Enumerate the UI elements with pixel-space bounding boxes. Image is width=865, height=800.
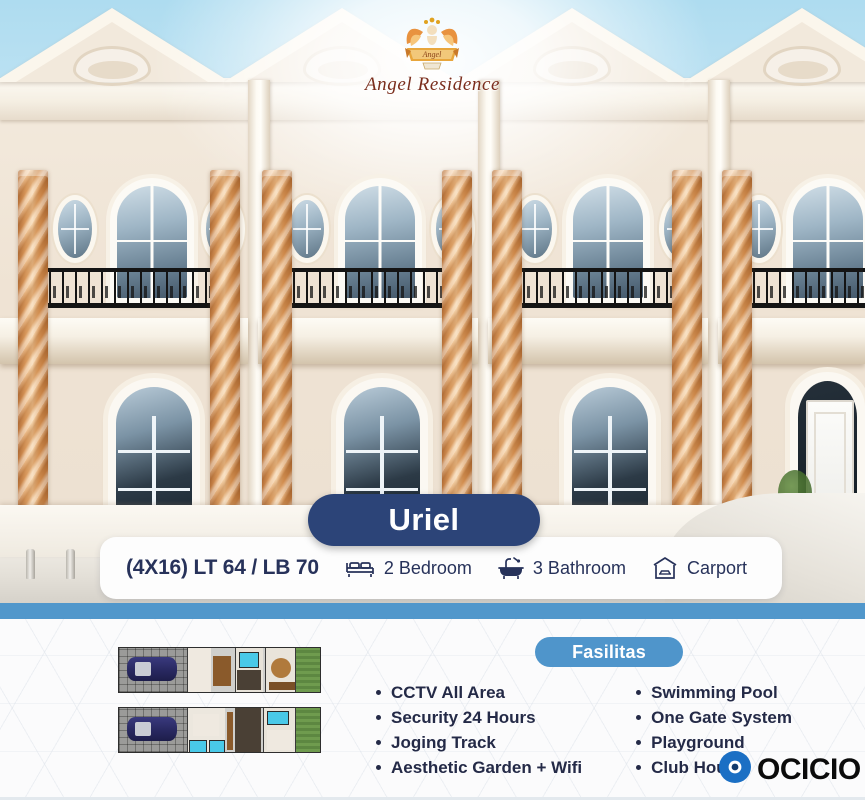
oval-window-unit-1-left xyxy=(58,200,92,258)
bathtub-icon xyxy=(498,556,524,580)
unit-name-badge: Uriel xyxy=(308,494,540,546)
ocicio-eye-logo-icon xyxy=(718,750,752,789)
bedroom-label: 2 Bedroom xyxy=(384,558,472,579)
twisted-column-7 xyxy=(722,170,752,538)
twisted-column-1 xyxy=(18,170,48,538)
door-frame-horizontal xyxy=(118,450,190,453)
list-item: Joging Track xyxy=(374,730,582,755)
bollard-post-1 xyxy=(26,549,35,579)
ocicio-watermark-text: OCICIO xyxy=(757,755,861,785)
balcony-railing-unit-4 xyxy=(740,268,865,308)
plan-furniture xyxy=(213,656,231,686)
dimensions-label: (4X16) LT 64 / LB 70 xyxy=(126,556,319,580)
twisted-column-3 xyxy=(262,170,292,538)
plan-garden xyxy=(295,708,320,752)
list-item: Security 24 Hours xyxy=(374,705,582,730)
plan-sofa xyxy=(269,682,295,690)
list-item: One Gate System xyxy=(634,705,792,730)
plan-room xyxy=(187,648,211,692)
door-frame-horizontal xyxy=(574,450,646,453)
property-promo-poster: Angel Angel Residence Uriel (4X16) LT 64… xyxy=(0,0,865,800)
door-frame-horizontal xyxy=(118,488,190,491)
svg-text:Angel: Angel xyxy=(422,50,442,59)
plan-bed xyxy=(267,730,293,750)
plan-car xyxy=(127,717,177,741)
plan-room-dark xyxy=(235,708,261,753)
plan-dining-table xyxy=(271,658,291,678)
door-frame-horizontal xyxy=(346,450,418,453)
specs-bar: (4X16) LT 64 / LB 70 2 Bedroom xyxy=(100,537,782,599)
twisted-column-5 xyxy=(492,170,522,538)
angel-crest-logo: Angel xyxy=(393,14,471,72)
list-item: CCTV All Area xyxy=(374,680,582,705)
door-frame-horizontal xyxy=(346,488,418,491)
plan-garden xyxy=(295,648,320,692)
facilities-list-left: CCTV All Area Security 24 Hours Joging T… xyxy=(374,680,582,780)
door-mullion-horizontal xyxy=(572,240,644,242)
plan-bathroom xyxy=(267,711,289,725)
oval-window-unit-3-left xyxy=(518,200,552,258)
facilities-heading-label: Fasilitas xyxy=(572,642,646,663)
oval-window-unit-2-left xyxy=(290,200,324,258)
spec-carport: Carport xyxy=(652,556,747,580)
brand-name-script: Angel Residence xyxy=(0,74,865,96)
door-mullion-horizontal xyxy=(792,240,864,242)
carport-label: Carport xyxy=(687,558,747,579)
upper-floor-plan[interactable] xyxy=(118,707,321,753)
plan-room-dark xyxy=(237,670,261,690)
facilities-heading-badge: Fasilitas xyxy=(535,637,683,667)
ocicio-watermark: OCICIO xyxy=(718,750,861,789)
bathroom-label: 3 Bathroom xyxy=(533,558,626,579)
twisted-column-6 xyxy=(672,170,702,538)
balcony-railing-unit-3 xyxy=(510,268,690,308)
door-frame-horizontal xyxy=(574,488,646,491)
door-mullion-horizontal xyxy=(344,240,416,242)
door-mullion-horizontal xyxy=(116,240,188,242)
unit-name-label: Uriel xyxy=(389,502,460,538)
balcony-railing-unit-2 xyxy=(280,268,460,308)
floor-plans-group xyxy=(118,647,321,767)
plan-bathroom xyxy=(239,652,259,668)
plan-bed xyxy=(193,714,219,736)
bed-icon xyxy=(345,557,375,579)
carport-icon xyxy=(652,556,678,580)
balcony-railing-unit-1 xyxy=(36,268,222,308)
spec-bedroom: 2 Bedroom xyxy=(345,557,472,579)
plan-door xyxy=(227,712,233,750)
twisted-column-4 xyxy=(442,170,472,538)
list-item: Swimming Pool xyxy=(634,680,792,705)
plan-car xyxy=(127,657,177,681)
twisted-column-2 xyxy=(210,170,240,538)
property-photo: Angel Angel Residence Uriel (4X16) LT 64… xyxy=(0,0,865,603)
list-item: Aesthetic Garden + Wifi xyxy=(374,755,582,780)
ground-floor-plan[interactable] xyxy=(118,647,321,693)
spec-bathroom: 3 Bathroom xyxy=(498,556,626,580)
plan-bathroom xyxy=(209,740,225,753)
bollard-post-2 xyxy=(66,549,75,579)
plan-bathroom xyxy=(189,740,207,753)
section-divider-band xyxy=(0,603,865,619)
